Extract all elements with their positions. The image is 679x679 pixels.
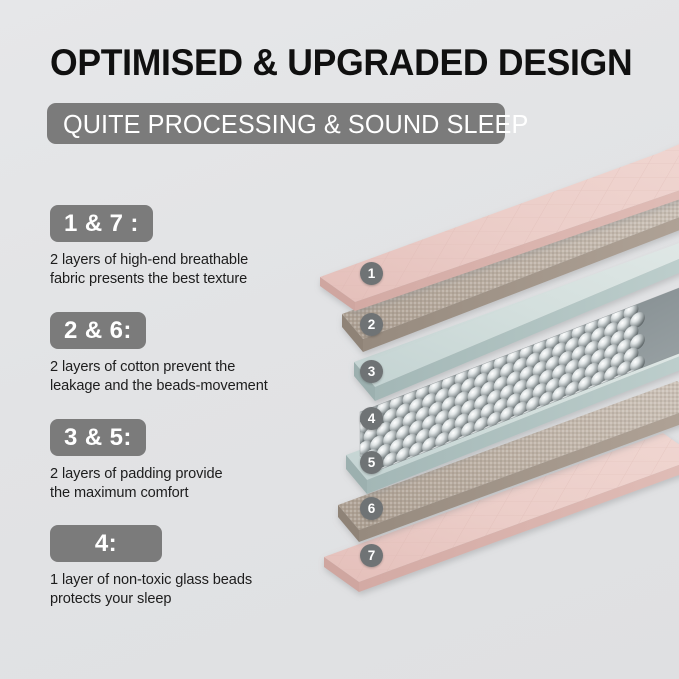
page-title: OPTIMISED & UPGRADED DESIGN <box>50 41 626 85</box>
feature-label: 3 & 5: <box>64 425 132 451</box>
feature-badge-4: 4: <box>50 525 162 562</box>
feature-label: 2 & 6: <box>64 318 132 344</box>
layer-number-badge-7: 7 <box>360 544 383 567</box>
feature-description: 1 layer of non-toxic glass beads protect… <box>50 571 350 609</box>
feature-item-2-6: 2 & 6: 2 layers of cotton prevent the le… <box>50 312 350 396</box>
feature-description: 2 layers of cotton prevent the leakage a… <box>50 358 350 396</box>
subtitle-text: QUITE PROCESSING & SOUND SLEEP <box>63 110 528 138</box>
layer-number-badge-2: 2 <box>360 313 383 336</box>
infographic-canvas: OPTIMISED & UPGRADED DESIGN QUITE PROCES… <box>0 0 679 679</box>
feature-label: 4: <box>95 531 117 557</box>
layer-stack-diagram: 1 2 3 4 5 6 7 <box>318 150 679 670</box>
feature-badge-3-5: 3 & 5: <box>50 419 146 456</box>
layer-number-badge-3: 3 <box>360 360 383 383</box>
layer-number-badge-1: 1 <box>360 262 383 285</box>
subtitle-badge: QUITE PROCESSING & SOUND SLEEP <box>47 103 505 144</box>
feature-badge-1-7: 1 & 7 : <box>50 205 153 242</box>
layer-number-badge-5: 5 <box>360 451 383 474</box>
feature-item-4: 4: 1 layer of non-toxic glass beads prot… <box>50 525 350 609</box>
layer-number-badge-4: 4 <box>360 407 383 430</box>
feature-badge-2-6: 2 & 6: <box>50 312 146 349</box>
feature-item-1-7: 1 & 7 : 2 layers of high-end breathable … <box>50 205 350 289</box>
feature-item-3-5: 3 & 5: 2 layers of padding provide the m… <box>50 419 350 503</box>
feature-description: 2 layers of high-end breathable fabric p… <box>50 251 350 289</box>
feature-label: 1 & 7 : <box>64 211 139 237</box>
feature-description: 2 layers of padding provide the maximum … <box>50 465 350 503</box>
layer-number-badge-6: 6 <box>360 497 383 520</box>
